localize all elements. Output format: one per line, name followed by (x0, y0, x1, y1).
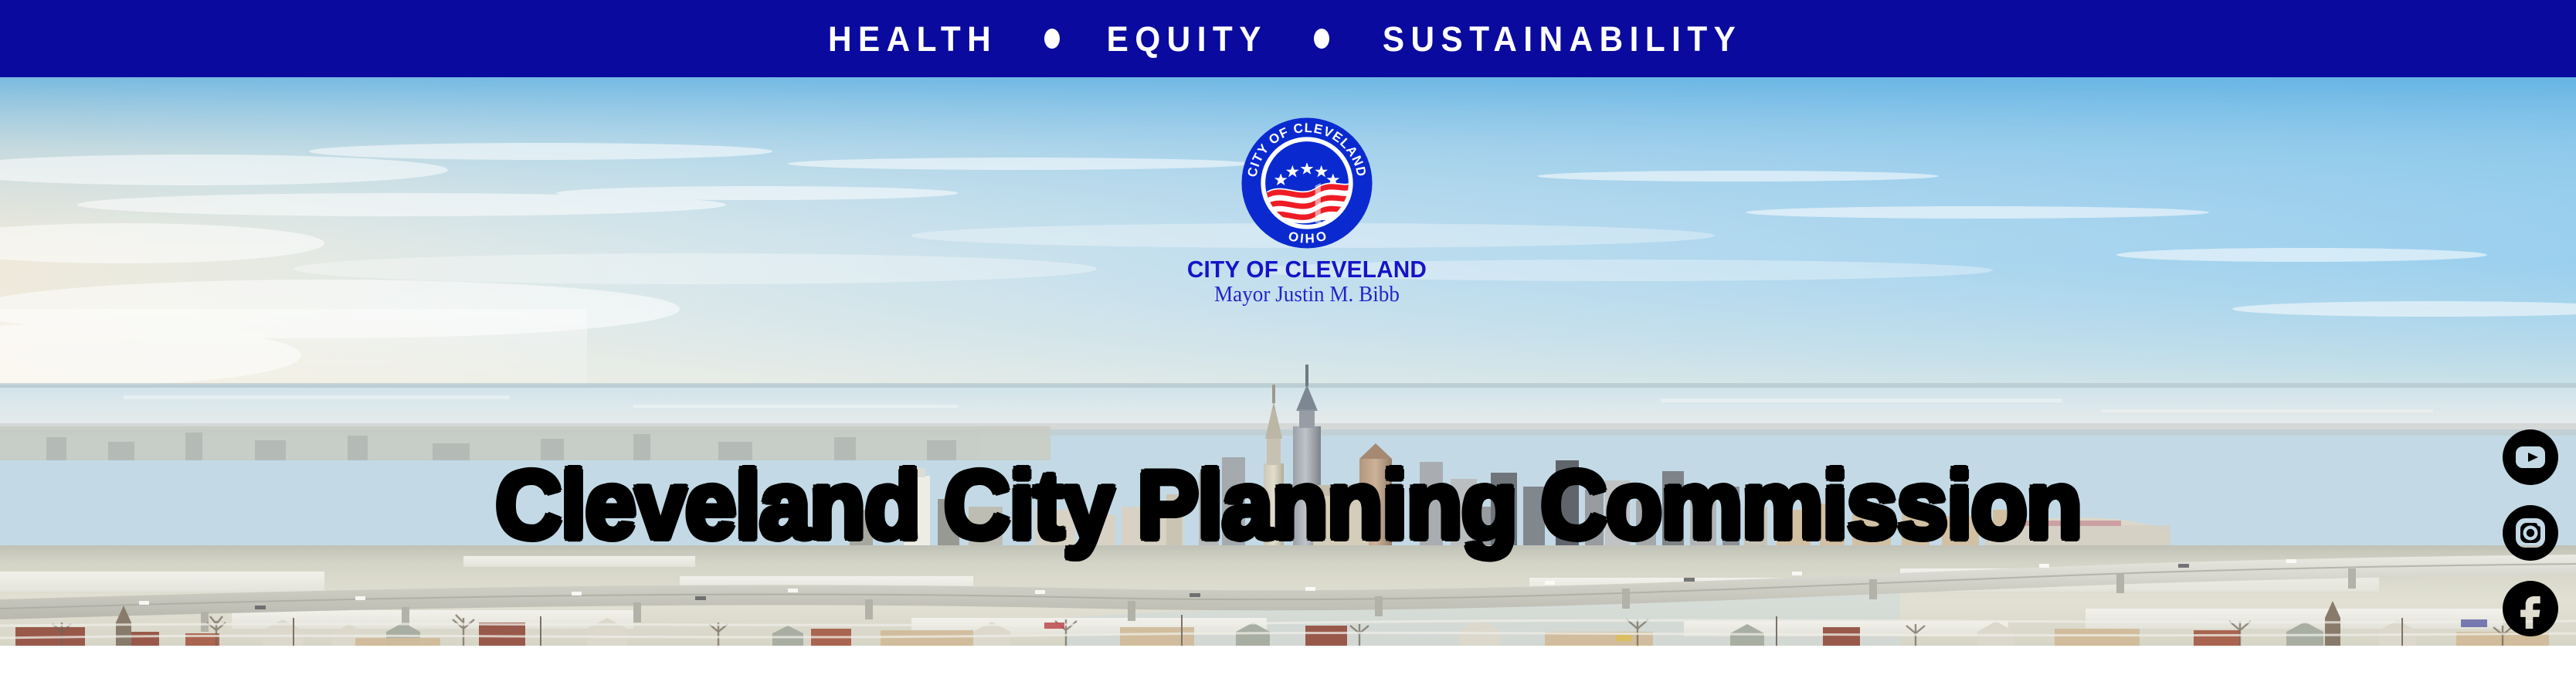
tagline-word-equity: EQUITY (1106, 22, 1267, 56)
tagline-banner: HEALTH EQUITY SUSTAINABILITY (0, 0, 2576, 77)
page-root: HEALTH EQUITY SUSTAINABILITY (0, 0, 2576, 682)
city-identity-block: CITY OF CLEVELAND OHIO (1160, 114, 1454, 306)
tagline-group: HEALTH EQUITY SUSTAINABILITY (823, 22, 1754, 56)
city-name-label: CITY OF CLEVELAND (1166, 257, 1448, 282)
bullet-separator-icon (1314, 29, 1329, 49)
social-link-youtube[interactable] (2503, 429, 2558, 485)
instagram-icon (2503, 505, 2558, 561)
facebook-icon (2503, 581, 2558, 636)
mayor-name-label: Mayor Justin M. Bibb (1165, 283, 1450, 306)
social-link-instagram[interactable] (2503, 505, 2558, 561)
youtube-icon (2503, 429, 2558, 485)
tagline-word-health: HEALTH (828, 22, 997, 56)
bullet-separator-icon (1044, 29, 1060, 49)
social-links (2498, 429, 2563, 636)
social-link-facebook[interactable] (2503, 581, 2558, 636)
tagline-word-sustainability: SUSTAINABILITY (1383, 22, 1742, 56)
city-of-cleveland-seal-icon: CITY OF CLEVELAND OHIO (1238, 114, 1376, 252)
